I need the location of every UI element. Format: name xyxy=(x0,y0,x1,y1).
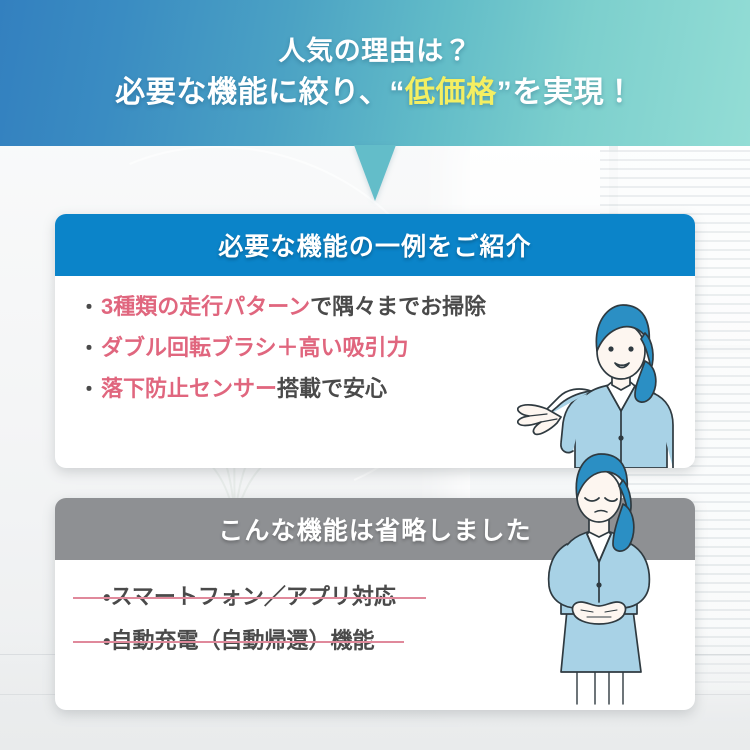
bullet-highlight-text: 落下防止センサー xyxy=(101,378,277,400)
card-included-banner-title: 必要な機能の一例をご紹介 xyxy=(55,214,695,276)
struck-item-text: ・スマートフォン／アプリ対応 xyxy=(103,586,396,608)
header-banner: 人気の理由は？ 必要な機能に絞り、“低価格”を実現！ xyxy=(0,0,750,146)
card-omitted-banner-title: こんな機能は省略しました xyxy=(55,498,695,560)
list-item-struck: ・自動充電（自動帰還）機能 xyxy=(85,630,392,652)
bullet-dot-icon: ・ xyxy=(79,380,99,400)
card-omitted-features: こんな機能は省略しました ・スマートフォン／アプリ対応 ・自動充電（自動帰還）機… xyxy=(55,498,695,710)
list-item: ・ ダブル回転ブラシ＋高い吸引力 xyxy=(79,337,671,359)
list-item: ・ 3種類の走行パターン で隅々までお掃除 xyxy=(79,296,671,318)
header-text-suffix: を実現！ xyxy=(512,76,634,109)
card-included-body: ・ 3種類の走行パターン で隅々までお掃除 ・ ダブル回転ブラシ＋高い吸引力 ・… xyxy=(55,276,695,429)
advertisement-page: 人気の理由は？ 必要な機能に絞り、“低価格”を実現！ 必要な機能の一例をご紹介 … xyxy=(0,0,750,750)
header-text-prefix: 必要な機能に絞り、 xyxy=(115,76,389,109)
bullet-dot-icon: ・ xyxy=(79,298,99,318)
header-headline-main: 必要な機能に絞り、“低価格”を実現！ xyxy=(115,74,635,112)
bullet-rest-text: 搭載で安心 xyxy=(277,378,387,400)
header-quote-close: ” xyxy=(497,76,513,109)
card-omitted-body: ・スマートフォン／アプリ対応 ・自動充電（自動帰還）機能 xyxy=(55,560,695,684)
list-item-struck: ・スマートフォン／アプリ対応 xyxy=(85,586,414,608)
header-arrow-down-icon xyxy=(354,145,396,201)
struck-item-text: ・自動充電（自動帰還）機能 xyxy=(103,630,374,652)
header-accent-word: 低価格 xyxy=(405,76,497,109)
bullet-highlight-text: ダブル回転ブラシ＋高い吸引力 xyxy=(101,337,409,359)
header-headline-question: 人気の理由は？ xyxy=(279,35,472,69)
header-quote-open: “ xyxy=(389,76,405,109)
card-included-features: 必要な機能の一例をご紹介 ・ 3種類の走行パターン で隅々までお掃除 ・ ダブル… xyxy=(55,214,695,468)
bullet-highlight-text: 3種類の走行パターン xyxy=(101,296,310,318)
list-item: ・ 落下防止センサー 搭載で安心 xyxy=(79,378,671,400)
bullet-rest-text: で隅々までお掃除 xyxy=(310,296,486,318)
bullet-dot-icon: ・ xyxy=(79,339,99,359)
